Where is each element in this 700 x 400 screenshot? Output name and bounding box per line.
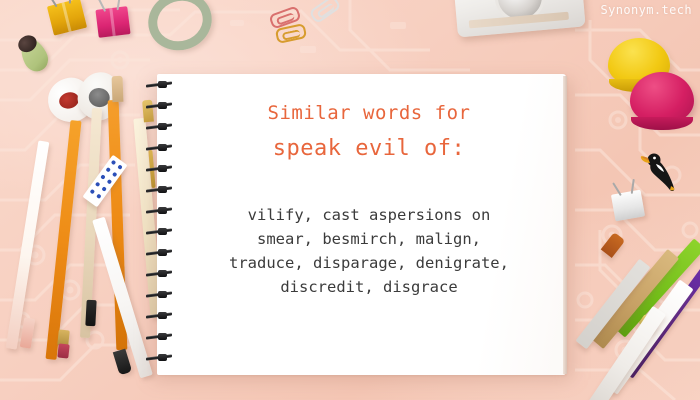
page-content: Similar words for speak evil of: vilify,… — [183, 90, 555, 299]
pencil-graphite-end — [85, 300, 96, 326]
synonym-line: discredit, disgrace — [183, 275, 555, 299]
query-term: speak evil of: — [183, 136, 555, 161]
notebook-page-edge — [563, 76, 567, 374]
synonym-line: traduce, disparage, denigrate, — [183, 251, 555, 275]
screenshot-root: Similar words for speak evil of: vilify,… — [0, 0, 700, 400]
pencil-orange-1-eraser — [57, 343, 69, 358]
synonym-line: smear, besmirch, malign, — [183, 227, 555, 251]
site-watermark: Synonym.tech — [601, 3, 693, 17]
headline-prefix: Similar words for — [183, 102, 555, 124]
toucan-figurine-icon — [640, 150, 690, 194]
binder-clip-white-icon — [611, 190, 645, 222]
macaron-pink-icon — [630, 72, 694, 124]
binder-clip-pink-icon — [95, 6, 130, 38]
synonym-list: vilify, cast aspersions on smear, besmir… — [183, 203, 555, 299]
pencil-orange-2-tip — [112, 76, 124, 102]
notebook-spiral-binding — [144, 78, 178, 372]
synonym-line: vilify, cast aspersions on — [183, 203, 555, 227]
